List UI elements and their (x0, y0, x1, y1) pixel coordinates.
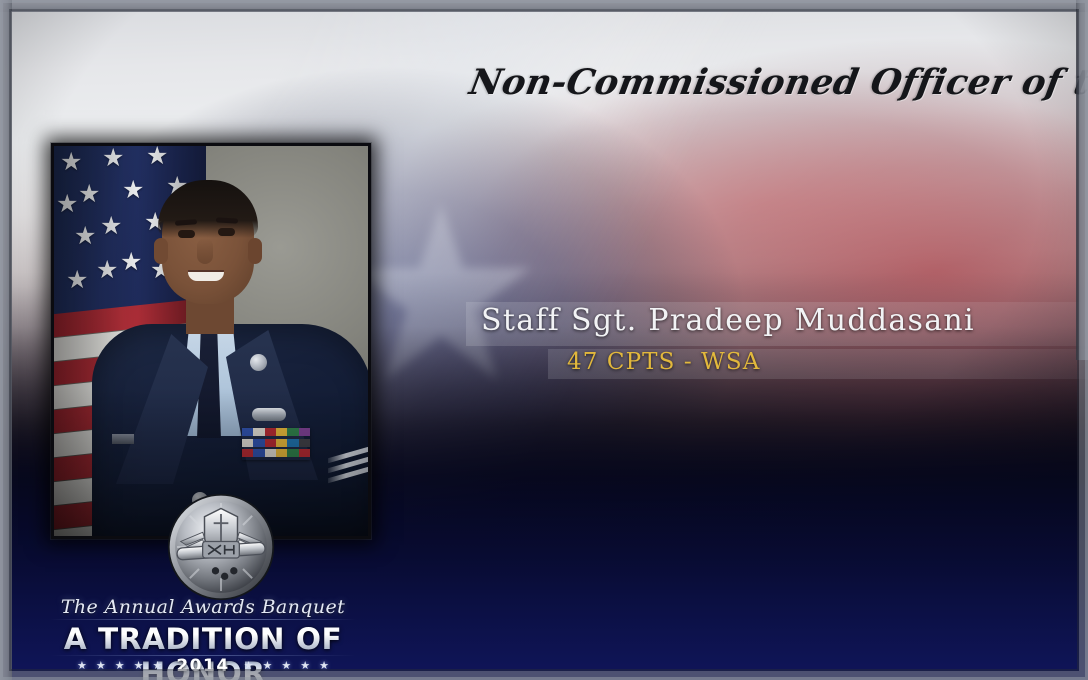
award-title: Non-Commissioned Officer of the Year (466, 62, 1059, 103)
logo-year-row: ★ ★ ★ ★ ★ 2014 ★ ★ ★ ★ ★ (38, 656, 368, 676)
banquet-logo: The Annual Awards Banquet A TRADITION OF… (38, 492, 368, 668)
ribbon (265, 428, 276, 436)
us-insignia-icon (250, 354, 267, 371)
awards-poster: Non-Commissioned Officer of the Year ★ ★… (0, 0, 1088, 680)
portrait-airman (54, 146, 368, 536)
airman-ear (248, 238, 262, 264)
ribbon (242, 439, 253, 447)
ribbon (287, 449, 298, 457)
star-icon: ★ (281, 661, 291, 672)
ribbon (253, 428, 264, 436)
ribbon (299, 439, 310, 447)
star-icon: ★ (134, 661, 144, 672)
star-icon: ★ (77, 661, 87, 672)
ribbon (265, 449, 276, 457)
ribbon (287, 428, 298, 436)
airman-ear (154, 238, 168, 264)
star-icon: ★ (244, 661, 254, 672)
ribbon (276, 439, 287, 447)
banquet-tagline: The Annual Awards Banquet (38, 596, 368, 618)
ribbon (299, 449, 310, 457)
banquet-year: 2014 (176, 656, 229, 676)
honoree-portrait: ★ ★ ★ ★ ★ ★ ★ ★ ★ ★ ★ ★ ★ ★ (51, 143, 371, 539)
ribbon (276, 428, 287, 436)
star-icon: ★ (115, 661, 125, 672)
ribbon (253, 449, 264, 457)
ribbon (276, 449, 287, 457)
ribbon-rack (242, 428, 310, 460)
ribbon (287, 439, 298, 447)
ribbon (242, 428, 253, 436)
airman-eye (178, 230, 195, 238)
ribbon (242, 449, 253, 457)
star-icon: ★ (152, 661, 162, 672)
star-icon: ★ (96, 661, 106, 672)
air-force-emblem-medallion-icon (166, 492, 276, 602)
airman-hair (158, 180, 258, 238)
star-icon: ★ (263, 661, 273, 672)
occupational-badge-icon (252, 408, 286, 421)
star-icon: ★ (319, 661, 329, 672)
airman-eye (218, 228, 235, 236)
honoree-name: Staff Sgt. Pradeep Muddasani (481, 303, 975, 338)
ribbon (253, 439, 264, 447)
logo-divider-top (50, 619, 356, 620)
airman-nose (197, 238, 213, 264)
rank-chevron-icon (328, 448, 371, 486)
star-icon: ★ (300, 661, 310, 672)
airman-eyebrow (216, 217, 238, 223)
honoree-unit: 47 CPTS - WSA (567, 349, 760, 375)
uniform-name-tag (112, 434, 134, 444)
ribbon (265, 439, 276, 447)
ribbon (299, 428, 310, 436)
airman-smile (188, 272, 224, 281)
